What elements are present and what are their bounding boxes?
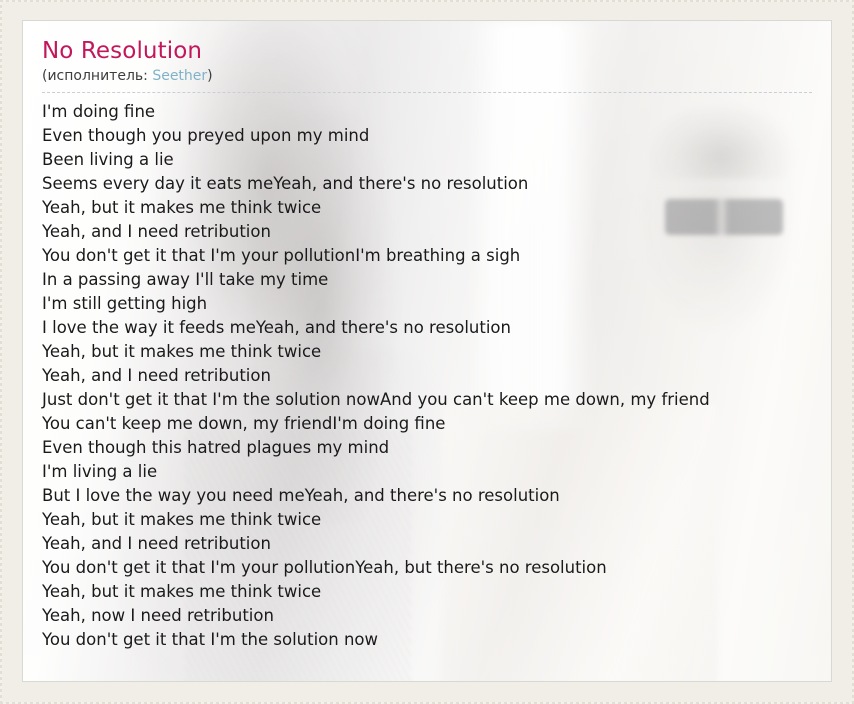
artist-suffix: ) <box>207 68 212 84</box>
lyric-line: In a passing away I'll take my time <box>42 268 831 292</box>
lyric-line: Yeah, and I need retribution <box>42 364 831 388</box>
lyric-line: Even though this hatred plagues my mind <box>42 436 831 460</box>
lyric-line: You can't keep me down, my friendI'm doi… <box>42 412 831 436</box>
lyric-line: Yeah, but it makes me think twice <box>42 508 831 532</box>
lyrics-body: I'm doing fine Even though you preyed up… <box>42 100 831 652</box>
header-divider <box>42 92 812 93</box>
lyric-line: Yeah, but it makes me think twice <box>42 196 831 220</box>
lyric-line: I love the way it feeds meYeah, and ther… <box>42 316 831 340</box>
lyric-line: Been living a lie <box>42 148 831 172</box>
lyric-line: Yeah, now I need retribution <box>42 604 831 628</box>
card-content: No Resolution (исполнитель: Seether) I'm… <box>23 21 831 652</box>
lyric-line: You don't get it that I'm your pollution… <box>42 556 831 580</box>
lyric-line: Just don't get it that I'm the solution … <box>42 388 831 412</box>
lyric-line: I'm living a lie <box>42 460 831 484</box>
lyric-line: Seems every day it eats meYeah, and ther… <box>42 172 831 196</box>
page-root: No Resolution (исполнитель: Seether) I'm… <box>0 0 854 704</box>
lyric-line: Even though you preyed upon my mind <box>42 124 831 148</box>
lyric-line: Yeah, but it makes me think twice <box>42 340 831 364</box>
artist-link[interactable]: Seether <box>152 68 207 84</box>
lyric-line: Yeah, and I need retribution <box>42 220 831 244</box>
lyric-line: I'm still getting high <box>42 292 831 316</box>
artist-line: (исполнитель: Seether) <box>42 67 831 85</box>
lyric-line: You don't get it that I'm your pollution… <box>42 244 831 268</box>
lyric-line: Yeah, and I need retribution <box>42 532 831 556</box>
lyric-line: Yeah, but it makes me think twice <box>42 580 831 604</box>
page-title: No Resolution <box>42 37 831 65</box>
lyric-card: No Resolution (исполнитель: Seether) I'm… <box>22 20 832 682</box>
artist-label: (исполнитель: <box>42 68 152 84</box>
lyric-line: I'm doing fine <box>42 100 831 124</box>
lyric-line: But I love the way you need meYeah, and … <box>42 484 831 508</box>
lyric-line: You don't get it that I'm the solution n… <box>42 628 831 652</box>
